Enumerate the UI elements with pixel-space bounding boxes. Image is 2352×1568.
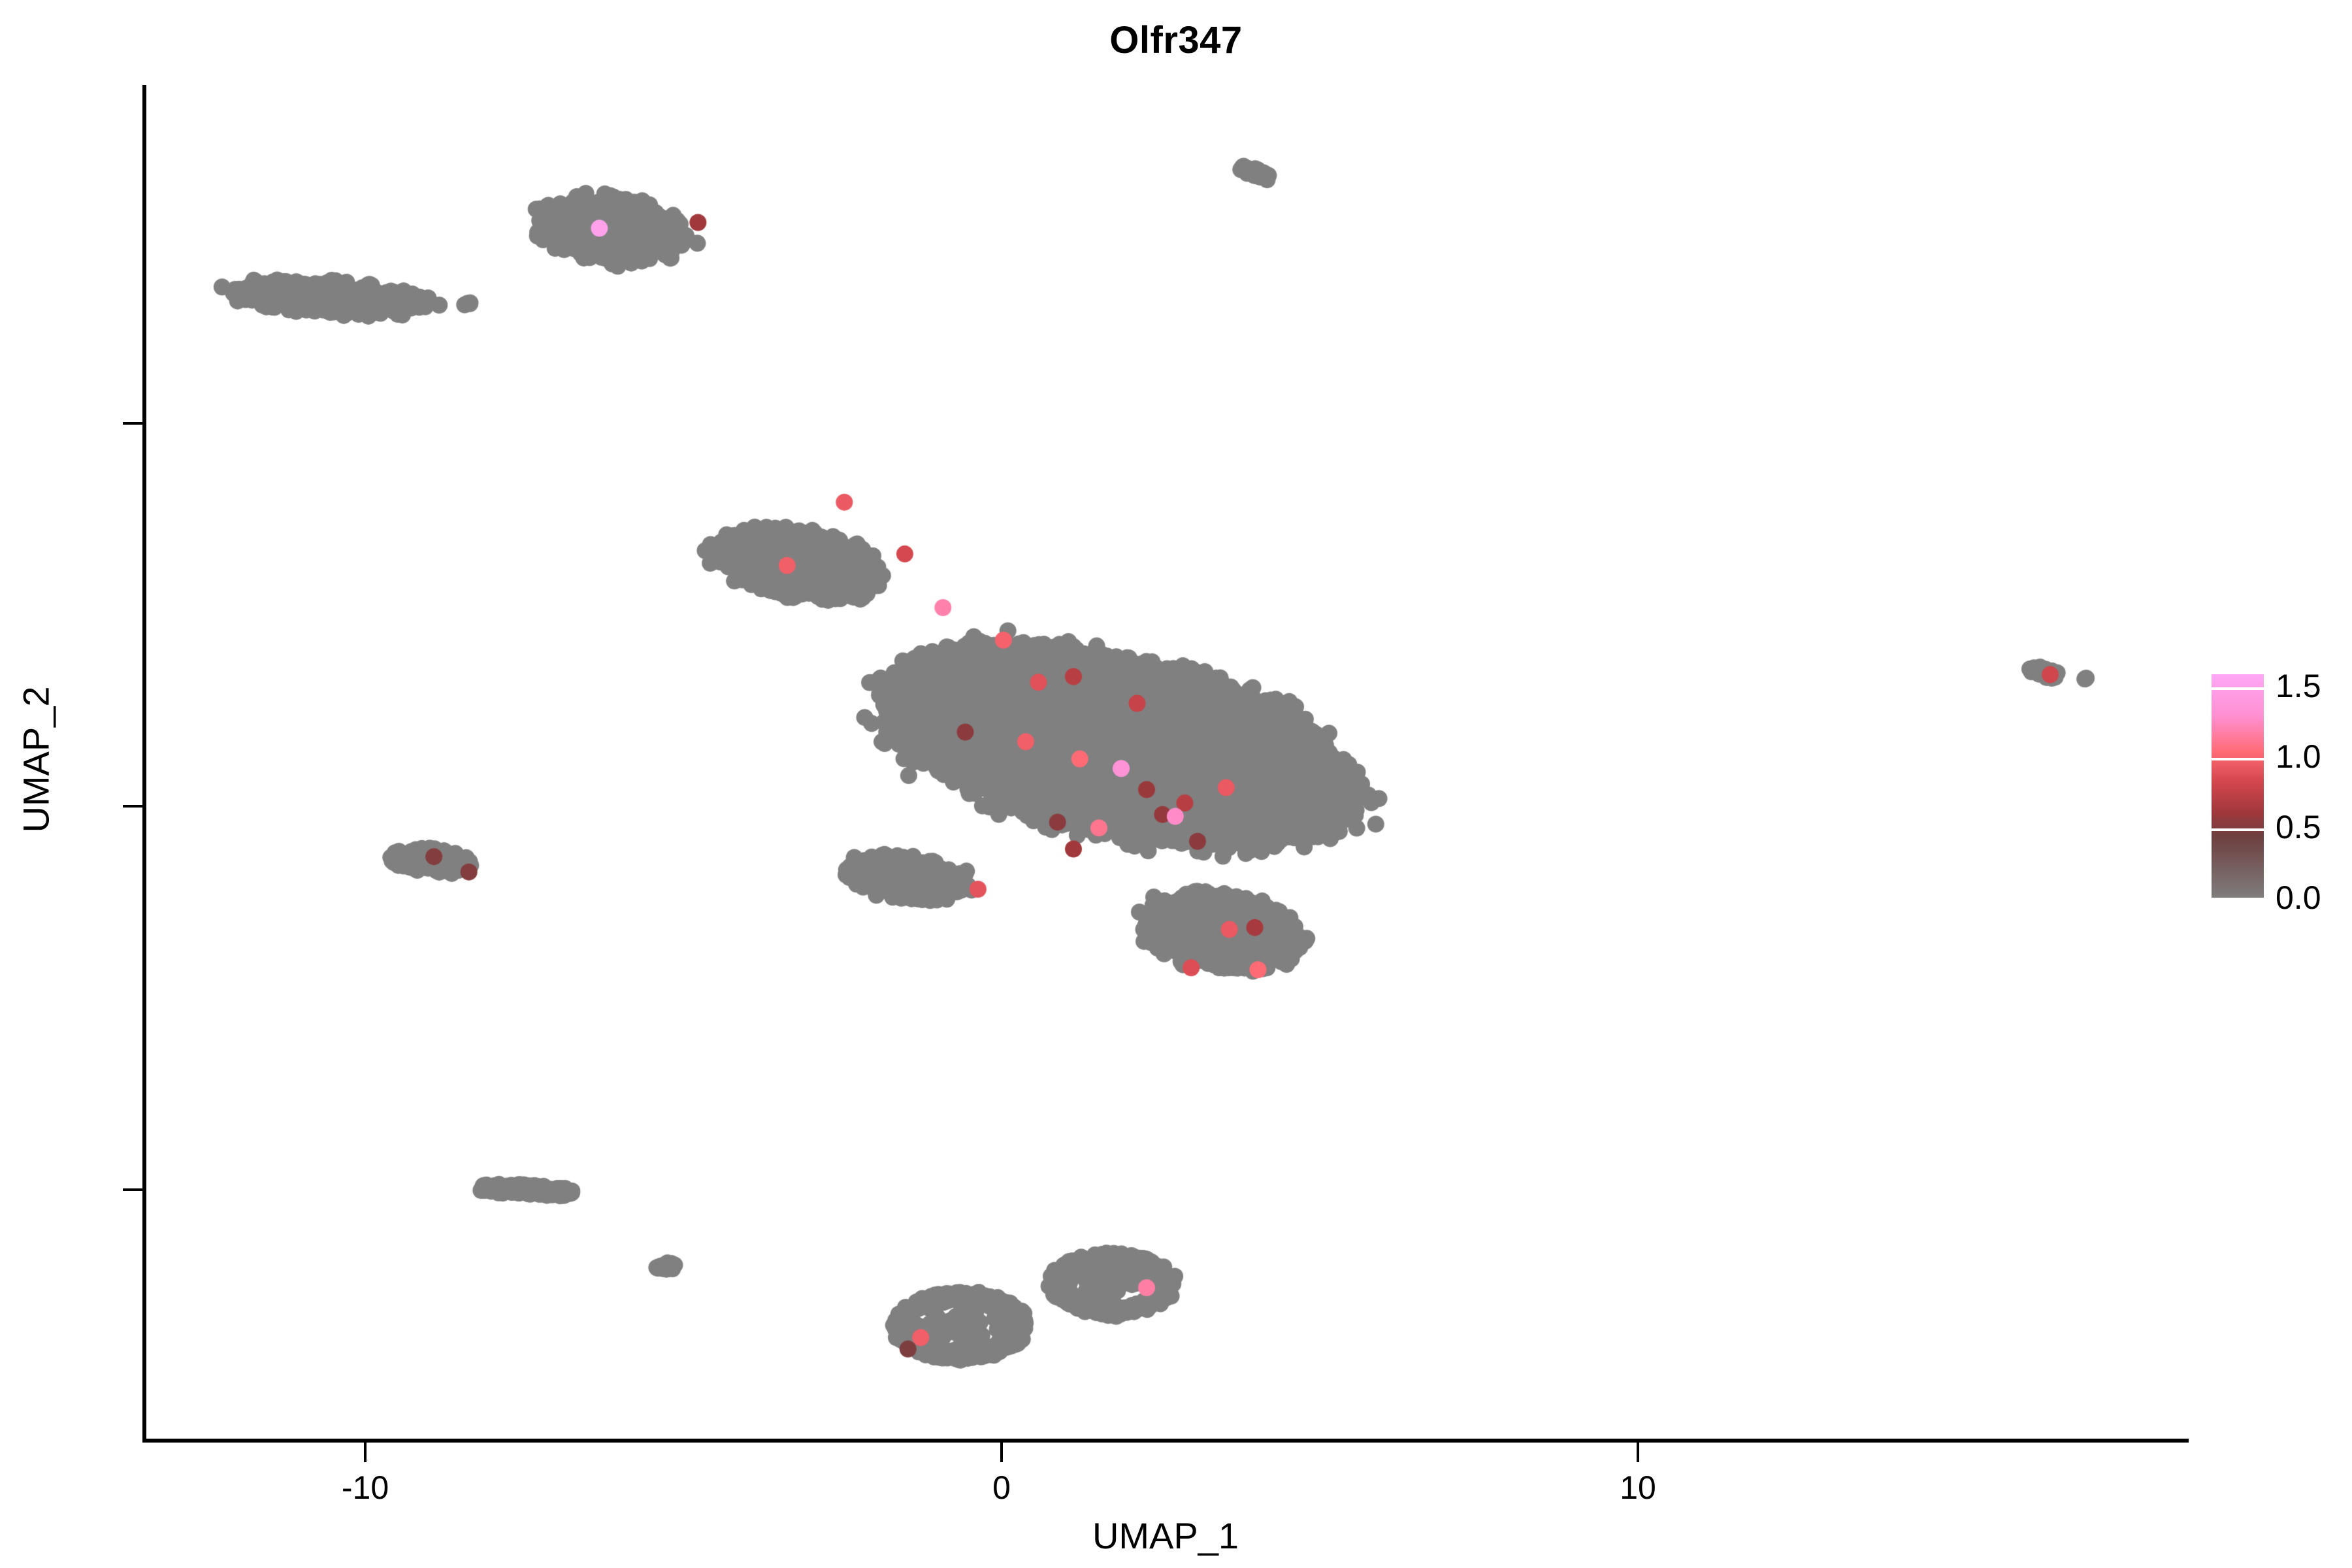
legend-tick-label: 0.5 [2276, 808, 2321, 846]
legend-tick-mark [2212, 758, 2264, 760]
x-tick-mark [1637, 1443, 1639, 1462]
plot-panel [144, 85, 2189, 1441]
legend-tick-mark [2212, 828, 2264, 831]
y-axis-line [142, 85, 146, 1443]
legend-tick-label: 0.0 [2276, 879, 2321, 917]
x-axis-line [142, 1439, 2189, 1443]
legend-tick-mark [2212, 898, 2264, 900]
y-tick-mark [123, 805, 142, 808]
umap-feature-plot: Olfr347 -10010 -10010 UMAP_1 UMAP_2 0.00… [0, 0, 2352, 1568]
x-axis-title: UMAP_1 [142, 1514, 2189, 1557]
legend-tick-label: 1.0 [2276, 738, 2321, 776]
y-tick-mark [123, 422, 142, 425]
x-tick-label: -10 [267, 1469, 463, 1507]
y-axis-title: UMAP_2 [15, 400, 57, 1119]
x-tick-mark [1000, 1443, 1003, 1462]
color-legend: 0.00.51.01.5 [2212, 674, 2336, 903]
x-tick-label: 10 [1540, 1469, 1736, 1507]
scatter-plot-canvas [144, 85, 2189, 1441]
legend-tick-mark [2212, 687, 2264, 690]
y-tick-mark [123, 1188, 142, 1191]
page-title: Olfr347 [0, 18, 2352, 62]
legend-colorbar [2212, 674, 2264, 900]
x-tick-mark [364, 1443, 367, 1462]
legend-tick-label: 1.5 [2276, 667, 2321, 705]
x-tick-label: 0 [904, 1469, 1100, 1507]
